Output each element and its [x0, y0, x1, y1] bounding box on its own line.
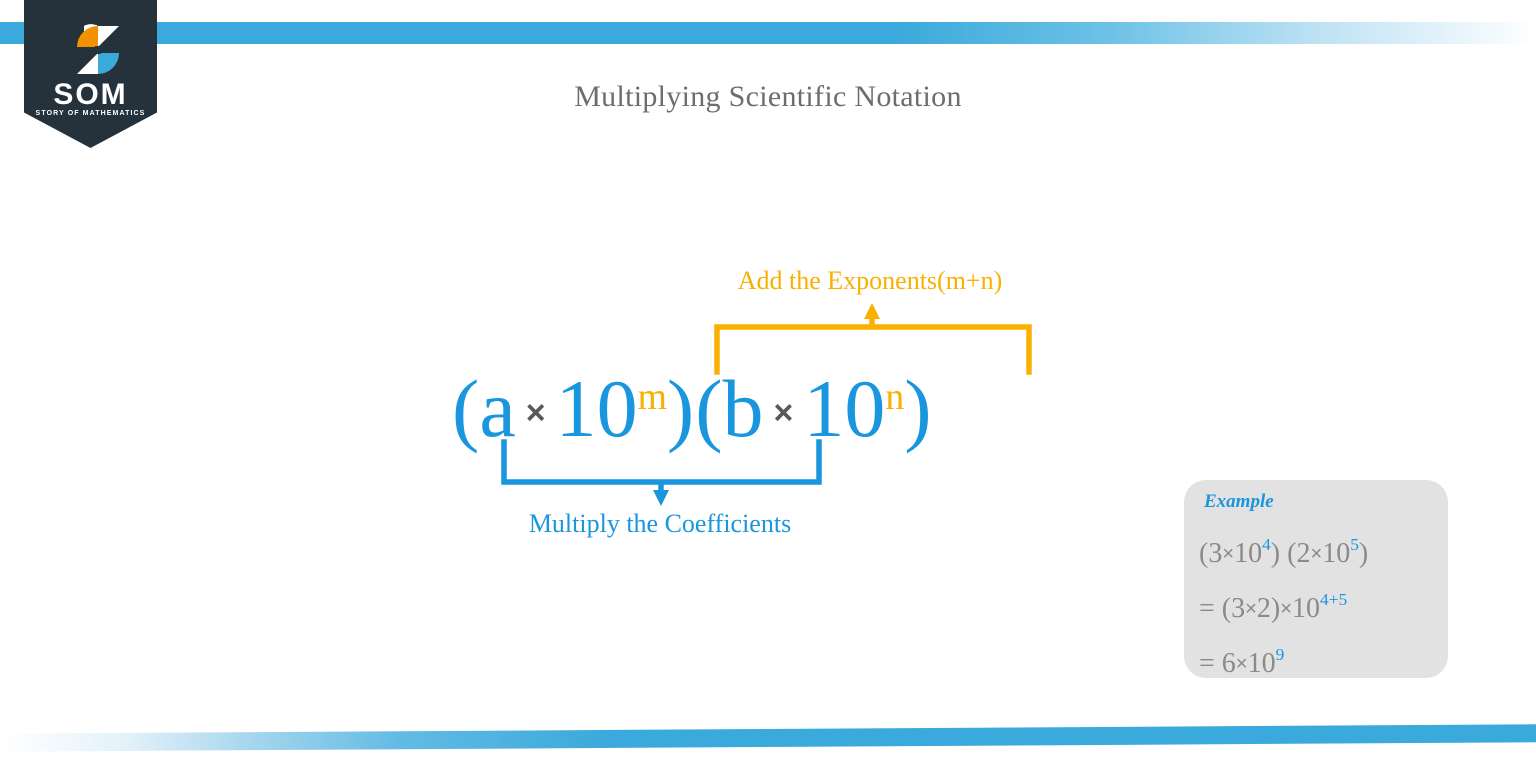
formula-coefficient-b: b — [723, 363, 764, 454]
formula-close-paren-1: ) — [667, 363, 694, 454]
orange-bracket-group — [717, 303, 1029, 372]
example-segment-exp: 4 — [1262, 535, 1271, 554]
example-segment-times: × — [1310, 543, 1322, 565]
example-segment-base: (3 — [1199, 538, 1222, 569]
formula-times-1: × — [516, 394, 556, 432]
annotation-label-multiply-coefficients: Multiply the Coefficients — [460, 511, 860, 537]
example-equation-line-3: = 6×109 — [1199, 632, 1449, 687]
example-segment-exp: 4+5 — [1320, 590, 1347, 609]
example-segment-base: = (3 — [1199, 593, 1245, 624]
example-equation-line-2: = (3×2)×104+5 — [1199, 577, 1449, 632]
som-logo-mark-icon — [70, 22, 126, 78]
top-accent-bar — [0, 22, 1536, 44]
formula-open-paren-2: ( — [694, 363, 722, 454]
blue-bracket-group — [504, 442, 819, 506]
example-segment-base: 10 — [1248, 647, 1276, 678]
example-segment-base: 10 — [1292, 593, 1320, 624]
example-segment-exp: 9 — [1276, 645, 1285, 664]
example-segment-times: × — [1236, 652, 1248, 674]
formula-base-1: 10 — [556, 363, 638, 454]
example-segment-base: 10 — [1234, 538, 1262, 569]
example-segment-base: ) — [1359, 538, 1368, 569]
som-logo-banner: SOM STORY OF MATHEMATICS — [24, 0, 157, 148]
example-segment-exp: 5 — [1350, 535, 1359, 554]
example-segment-times: × — [1245, 598, 1257, 620]
example-segment-base: 2) — [1257, 593, 1280, 624]
formula-exponent-n: n — [885, 376, 904, 418]
example-equation-list: (3×104) (2×105)= (3×2)×104+5= 6×109 — [1199, 522, 1449, 686]
annotation-label-add-exponents: Add the Exponents(m+n) — [660, 268, 1080, 294]
bottom-accent-bar — [0, 724, 1536, 751]
formula-close-paren-2: ) — [904, 363, 931, 454]
example-segment-base: ) (2 — [1271, 538, 1311, 569]
formula-coefficient-a: a — [479, 363, 515, 454]
formula-base-2: 10 — [803, 363, 885, 454]
example-segment-base: 10 — [1322, 538, 1350, 569]
slide-canvas: SOM STORY OF MATHEMATICS Multiplying Sci… — [0, 0, 1536, 768]
example-title: Example — [1204, 492, 1274, 511]
example-segment-base: = 6 — [1199, 647, 1236, 678]
example-segment-times: × — [1280, 598, 1292, 620]
example-box: Example (3×104) (2×105)= (3×2)×104+5= 6×… — [1184, 480, 1448, 678]
example-equation-line-1: (3×104) (2×105) — [1199, 522, 1449, 577]
formula-open-paren-1: ( — [452, 363, 479, 454]
formula-exponent-m: m — [638, 376, 667, 418]
main-formula: (a×10m)(b×10n) — [452, 368, 932, 450]
page-title: Multiplying Scientific Notation — [0, 80, 1536, 114]
example-segment-times: × — [1222, 543, 1234, 565]
formula-times-2: × — [764, 394, 804, 432]
